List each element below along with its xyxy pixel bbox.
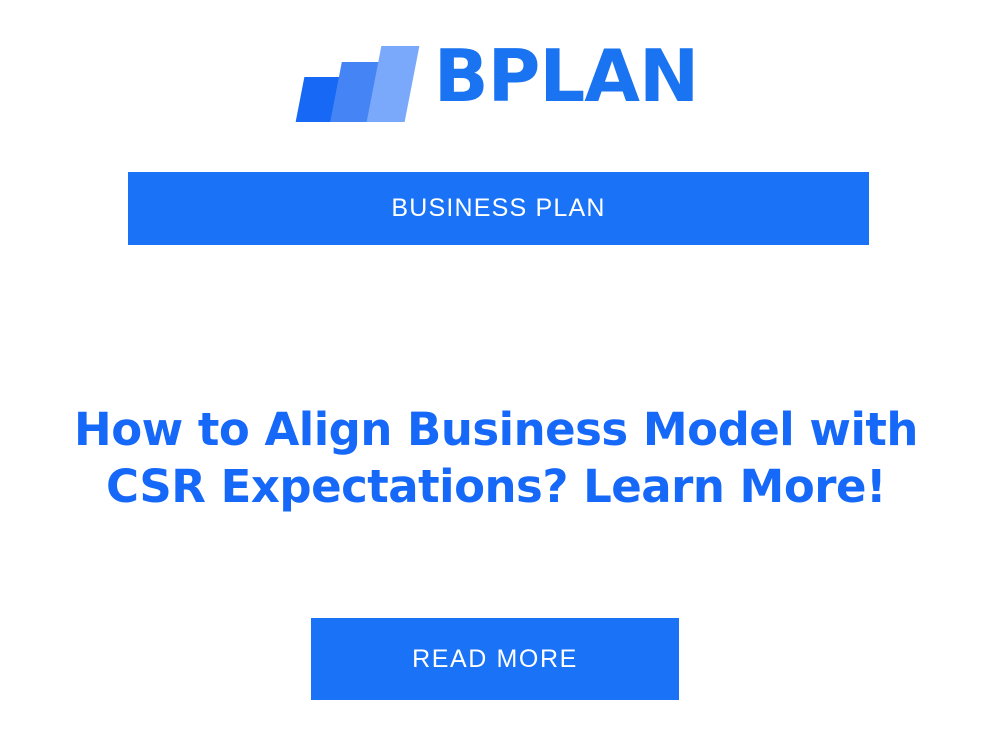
bar-chart-logo-icon	[294, 34, 406, 122]
page-title-line-2: CSR Expectations? Learn More!	[46, 458, 946, 515]
page-title-line-1: How to Align Business Model with	[46, 401, 946, 458]
brand-wordmark: BPLAN	[434, 40, 699, 116]
brand-header: BPLAN	[0, 28, 992, 128]
logo-bar-large	[366, 46, 419, 122]
page-title: How to Align Business Model with CSR Exp…	[46, 401, 946, 515]
read-more-button-label: Read More	[412, 645, 578, 674]
category-banner-label: Business Plan	[391, 194, 605, 223]
read-more-button[interactable]: Read More	[311, 618, 679, 700]
promo-card: BPLAN Business Plan How to Align Busines…	[0, 0, 992, 744]
category-banner: Business Plan	[128, 172, 869, 245]
